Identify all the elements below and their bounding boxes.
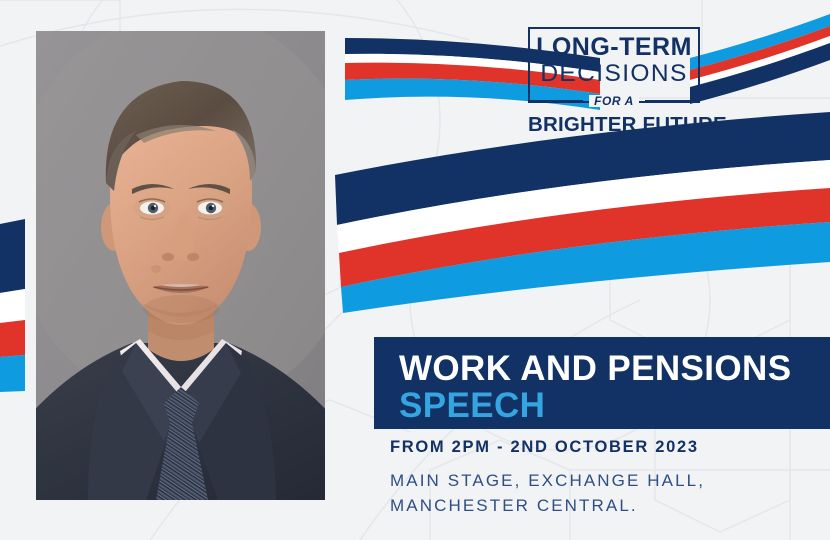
logo-line-long-term: LONG-TERM [536, 35, 692, 61]
event-title-main: WORK AND PENSIONS [399, 350, 830, 387]
event-title-sub: SPEECH [399, 387, 830, 424]
speaker-portrait [36, 31, 325, 500]
logo-connector-for-a: FOR A [589, 95, 639, 107]
event-details: FROM 2PM - 2ND OCTOBER 2023 MAIN STAGE, … [390, 439, 705, 519]
logo-connector-row: FOR A [528, 92, 700, 110]
event-datetime: FROM 2PM - 2ND OCTOBER 2023 [390, 439, 705, 456]
logo-line-decisions: DECISIONS [536, 61, 692, 87]
logo-rule-left [528, 100, 583, 102]
event-title-band: WORK AND PENSIONS SPEECH [374, 337, 830, 429]
event-venue-line-2: MANCHESTER CENTRAL. [390, 493, 705, 519]
event-announcement-poster: LONG-TERM DECISIONS FOR A BRIGHTER FUTUR… [0, 0, 830, 540]
ribbon-left-edge-fragment [0, 219, 25, 392]
logo-rule-right [645, 100, 700, 102]
event-venue-line-1: MAIN STAGE, EXCHANGE HALL, [390, 468, 705, 494]
portrait-image [36, 31, 325, 500]
ribbon-top-right [690, 14, 830, 104]
logo-line-brighter-future: BRIGHTER FUTURE [528, 115, 700, 136]
logo-box: LONG-TERM DECISIONS FOR A [528, 27, 700, 103]
campaign-logo-lockup: LONG-TERM DECISIONS FOR A BRIGHTER FUTUR… [528, 27, 700, 135]
ribbon-main-sweep [335, 112, 830, 313]
